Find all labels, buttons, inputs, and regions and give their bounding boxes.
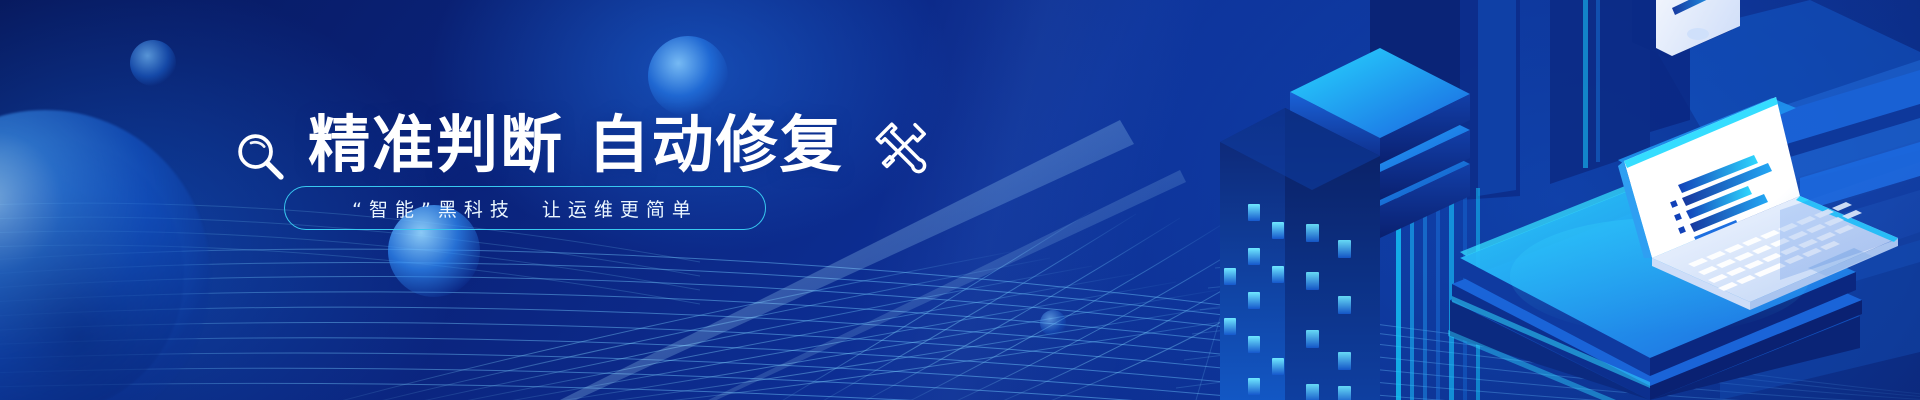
page-title: 精准判断 自动修复	[308, 114, 844, 176]
isometric-illustration	[1220, 0, 1920, 400]
subtitle-text: “智能”黑科技 让运维更简单	[352, 195, 698, 222]
tech-banner: 精准判断 自动修复 “智能”黑科技 让运维更简单	[0, 0, 1920, 400]
copy-block: 精准判断 自动修复 “智能”黑科技 让运维更简单	[0, 0, 1160, 400]
search-icon	[232, 128, 290, 186]
headline-row: 精准判断 自动修复	[232, 104, 932, 186]
subtitle-pill: “智能”黑科技 让运维更简单	[284, 186, 766, 230]
wrench-screwdriver-icon	[870, 117, 932, 179]
